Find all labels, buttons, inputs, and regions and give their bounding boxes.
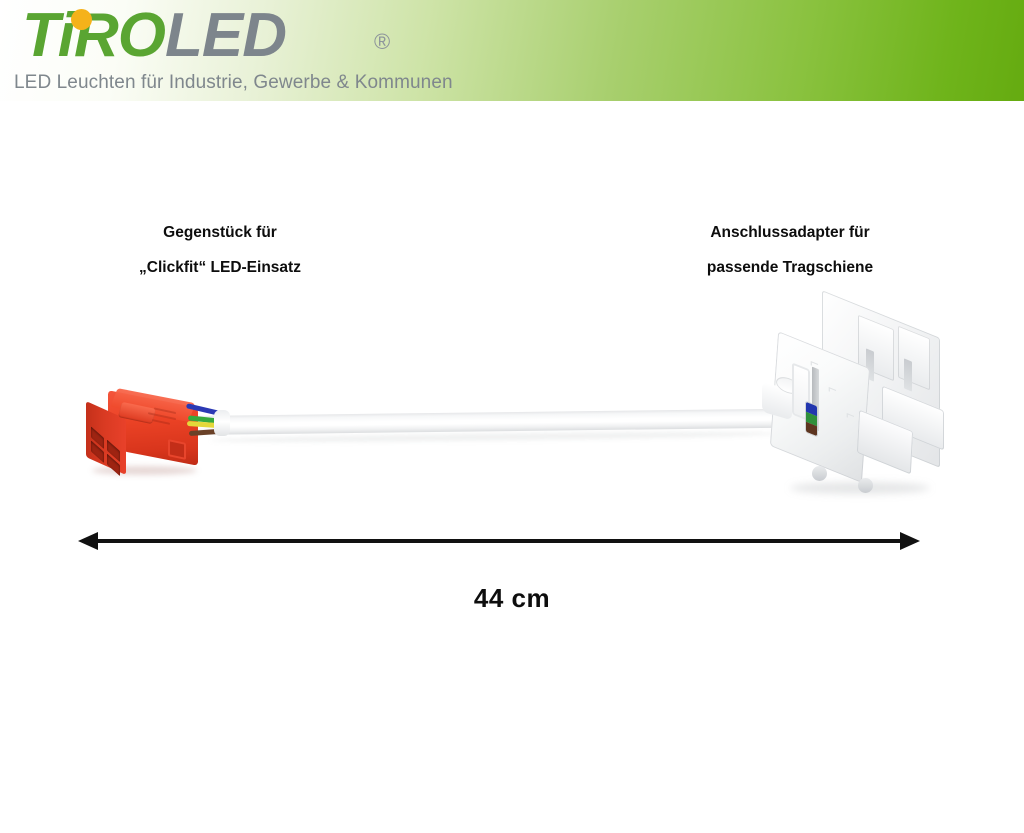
red-connector-notch bbox=[168, 439, 186, 460]
adapter-foot bbox=[858, 478, 873, 493]
callout-left-line1: Gegenstück für bbox=[65, 215, 375, 250]
white-track-adapter: ⌐ ⌐ ⌐ bbox=[762, 312, 958, 498]
adapter-contact-slot bbox=[904, 358, 912, 391]
brand-tagline: LED Leuchten für Industrie, Gewerbe & Ko… bbox=[14, 72, 453, 94]
brand-header-band: TiROLED ® LED Leuchten für Industrie, Ge… bbox=[0, 0, 1024, 101]
dimension-line bbox=[94, 539, 904, 543]
callout-right-line1: Anschlussadapter für bbox=[640, 215, 940, 250]
adapter-embossed-glyph-icon: ⌐ bbox=[810, 354, 819, 373]
callout-right-line2: passende Tragschiene bbox=[640, 250, 940, 285]
exposed-wire-bundle bbox=[186, 404, 228, 442]
logo-wordmark: TiROLED ® bbox=[22, 2, 286, 70]
logo-text-tiro: TiRO bbox=[22, 1, 165, 70]
registered-trademark-icon: ® bbox=[374, 8, 389, 76]
white-cable bbox=[190, 409, 790, 435]
callout-right-connector: Anschlussadapter für passende Tragschien… bbox=[640, 215, 940, 285]
callout-left-connector: Gegenstück für „Clickfit“ LED-Einsatz bbox=[65, 215, 375, 285]
adapter-embossed-glyph-icon: ⌐ bbox=[828, 380, 837, 399]
adapter-foot bbox=[812, 466, 827, 481]
adapter-wire-indicator bbox=[806, 402, 817, 436]
orange-dot-icon bbox=[71, 9, 92, 30]
dimension-label: 44 cm bbox=[0, 583, 1024, 614]
callout-left-line2: „Clickfit“ LED-Einsatz bbox=[65, 250, 375, 285]
arrow-head-right-icon bbox=[900, 532, 920, 550]
logo-text-led: LED bbox=[165, 1, 286, 70]
adapter-embossed-glyph-icon: ⌐ bbox=[846, 406, 855, 425]
tiroled-logo[interactable]: TiROLED ® LED Leuchten für Industrie, Ge… bbox=[8, 2, 428, 100]
double-headed-arrow-icon bbox=[78, 528, 920, 554]
cable-sheath-collar bbox=[214, 410, 230, 436]
